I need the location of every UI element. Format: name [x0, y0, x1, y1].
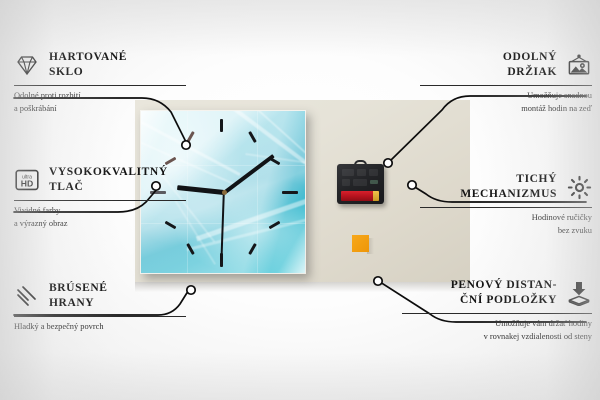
feature-description: Hladký a bezpečný povrch — [14, 321, 186, 333]
feature-title: VYSOKOKVALITNÝ TLAČ — [49, 165, 168, 195]
feature-header: TICHÝ MECHANIZMUS — [420, 172, 592, 202]
feature-tempered-glass: HARTOVANÉ SKLO Odolné proti rozbití a po… — [14, 50, 186, 115]
ground-edges-icon — [14, 283, 40, 309]
feature-description: Odolné proti rozbití a poškrábání — [14, 90, 186, 114]
feature-divider — [420, 85, 592, 86]
feature-header: PENOVÝ DISTAN- ČNÍ PODLOŽKY — [402, 278, 592, 308]
feature-divider — [402, 313, 592, 314]
feature-header: ODOLNÝ DRŽIAK — [420, 50, 592, 80]
feature-title: HARTOVANÉ SKLO — [49, 50, 127, 80]
feature-header: HARTOVANÉ SKLO — [14, 50, 186, 80]
feature-description: Umožňuje snadnou montáž hodin na zeď — [420, 90, 592, 114]
feature-description: Hodinové ručičky bez zvuku — [420, 212, 592, 236]
feature-divider — [420, 207, 592, 208]
foam-pad-icon — [566, 280, 592, 306]
feature-header: BRÚSENÉ HRANY — [14, 281, 186, 311]
feature-title: PENOVÝ DISTAN- ČNÍ PODLOŽKY — [451, 278, 557, 308]
feature-title: TICHÝ MECHANIZMUS — [460, 172, 557, 202]
ultra-hd-icon: ultra HD — [14, 167, 40, 193]
feature-divider — [14, 85, 186, 86]
connector-endpoint-mechanism — [408, 181, 416, 189]
feature-description: Umožňuje vám držať hodiny v rovnakej vzd… — [402, 318, 592, 342]
feature-silent-mechanism: TICHÝ MECHANIZMUS Hodinové ručičky bez z… — [420, 172, 592, 237]
feature-title: ODOLNÝ DRŽIAK — [503, 50, 557, 80]
hd-label: HD — [21, 179, 33, 189]
feature-high-quality-print: ultra HD VYSOKOKVALITNÝ TLAČ Vividné far… — [14, 165, 186, 230]
feature-divider — [14, 316, 186, 317]
connector-endpoint-edges — [187, 286, 195, 294]
feature-divider — [14, 200, 186, 201]
infographic-stage: HARTOVANÉ SKLO Odolné proti rozbití a po… — [0, 0, 600, 400]
feature-title: BRÚSENÉ HRANY — [49, 281, 108, 311]
diamond-icon — [14, 52, 40, 78]
feature-durable-holder: ODOLNÝ DRŽIAK Umožňuje snadnou montáž ho… — [420, 50, 592, 115]
feature-foam-spacers: PENOVÝ DISTAN- ČNÍ PODLOŽKY Umožňuje vám… — [402, 278, 592, 343]
gear-icon — [566, 174, 592, 200]
connector-endpoint-foam — [374, 277, 382, 285]
feature-ground-edges: BRÚSENÉ HRANY Hladký a bezpečný povrch — [14, 281, 186, 334]
connector-endpoint-glass — [182, 141, 190, 149]
wall-hanger-icon — [566, 52, 592, 78]
feature-description: Vividné farby a výrazný obraz — [14, 205, 186, 229]
connector-endpoint-holder — [384, 159, 392, 167]
feature-header: ultra HD VYSOKOKVALITNÝ TLAČ — [14, 165, 186, 195]
